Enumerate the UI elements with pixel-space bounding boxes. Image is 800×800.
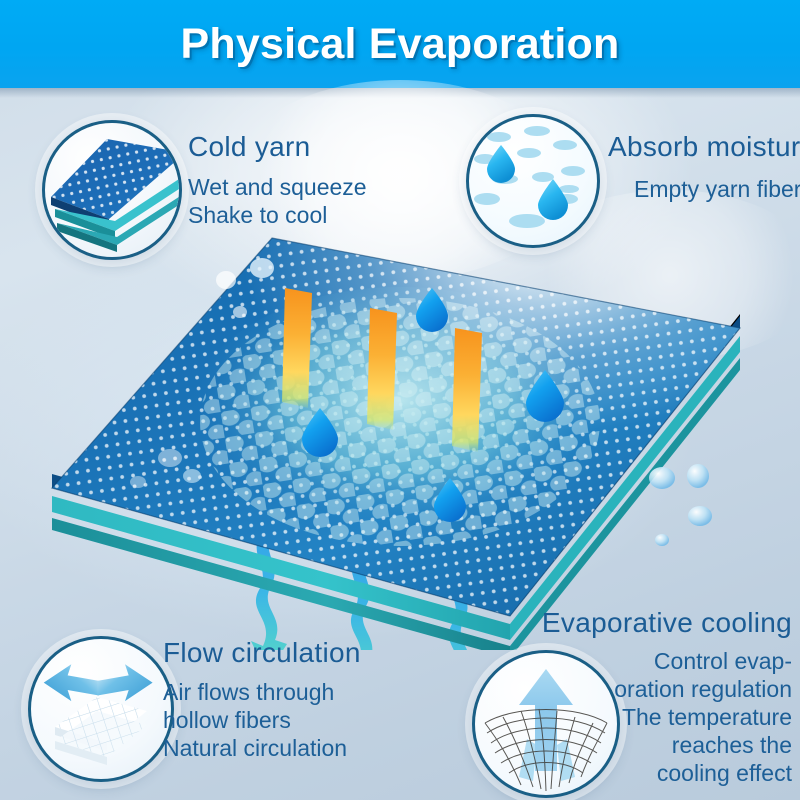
feature-heading-flow-circulation: Flow circulation — [163, 638, 361, 669]
feature-heading-cold-yarn: Cold yarn — [188, 132, 367, 163]
feature-text-flow-circulation: Flow circulation Air flows through hollo… — [163, 638, 361, 762]
layered-fabric-icon — [42, 120, 182, 260]
droplets-pores-icon — [466, 114, 600, 248]
header-banner: Physical Evaporation — [0, 0, 800, 88]
feature-line-flow-circulation-2: hollow fibers — [163, 706, 361, 734]
feature-line-flow-circulation-1: Air flows through — [163, 678, 361, 706]
feature-line-evaporative-cooling-4: reaches the — [542, 731, 792, 759]
infographic-canvas: Physical Evaporation — [0, 0, 800, 800]
ambient-droplets-right — [640, 440, 750, 570]
feature-line-evaporative-cooling-2: oration regulation — [542, 675, 792, 703]
ambient-droplets-left — [200, 250, 310, 340]
outward-arrows-mesh-icon — [28, 636, 174, 782]
feature-text-absorb-moisture: Absorb moisture Empty yarn fiber — [608, 132, 800, 203]
feature-line-cold-yarn-2: Shake to cool — [188, 201, 367, 229]
feature-text-evaporative-cooling: Evaporative cooling Control evap- oratio… — [542, 608, 792, 787]
feature-text-cold-yarn: Cold yarn Wet and squeeze Shake to cool — [188, 132, 367, 229]
feature-line-absorb-moisture-1: Empty yarn fiber — [634, 175, 800, 203]
feature-line-cold-yarn-1: Wet and squeeze — [188, 173, 367, 201]
feature-heading-evaporative-cooling: Evaporative cooling — [542, 608, 792, 639]
page-title: Physical Evaporation — [181, 20, 620, 69]
feature-line-evaporative-cooling-3: The temperature — [542, 703, 792, 731]
header-shadow — [0, 88, 800, 98]
feature-heading-absorb-moisture: Absorb moisture — [608, 132, 800, 163]
feature-line-flow-circulation-3: Natural circulation — [163, 734, 361, 762]
feature-line-evaporative-cooling-5: cooling effect — [542, 759, 792, 787]
feature-line-evaporative-cooling-1: Control evap- — [542, 647, 792, 675]
